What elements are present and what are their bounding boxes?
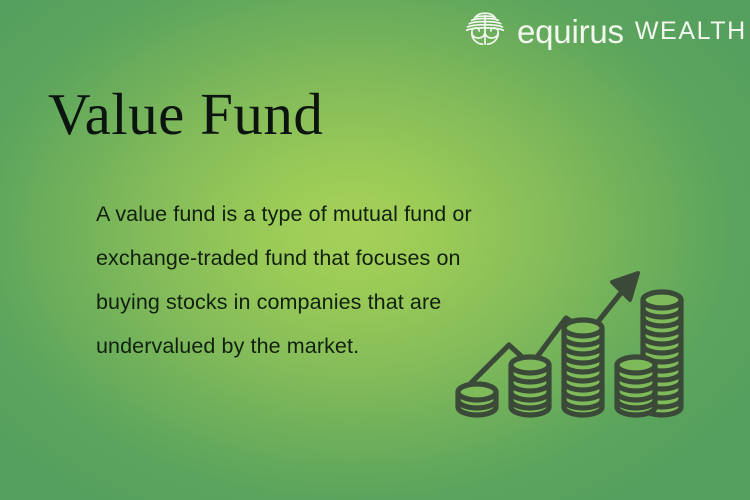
coin-stack-5-front xyxy=(617,357,655,415)
growth-coin-stacks-illustration xyxy=(452,255,692,430)
brand-lockup: equirus WEALTH xyxy=(462,8,747,52)
coin-stack-2 xyxy=(511,357,549,415)
brand-subtitle: WEALTH xyxy=(635,19,747,44)
brand-name: equirus xyxy=(517,15,624,48)
coin-stack-3 xyxy=(564,320,602,415)
slide-canvas: equirus WEALTH Value Fund A value fund i… xyxy=(0,0,750,500)
body-line-1: A value fund is a type of mutual fund or xyxy=(96,192,566,236)
banyan-tree-logo-icon xyxy=(462,10,508,50)
page-title: Value Fund xyxy=(48,83,323,147)
coin-stack-1 xyxy=(458,384,496,415)
